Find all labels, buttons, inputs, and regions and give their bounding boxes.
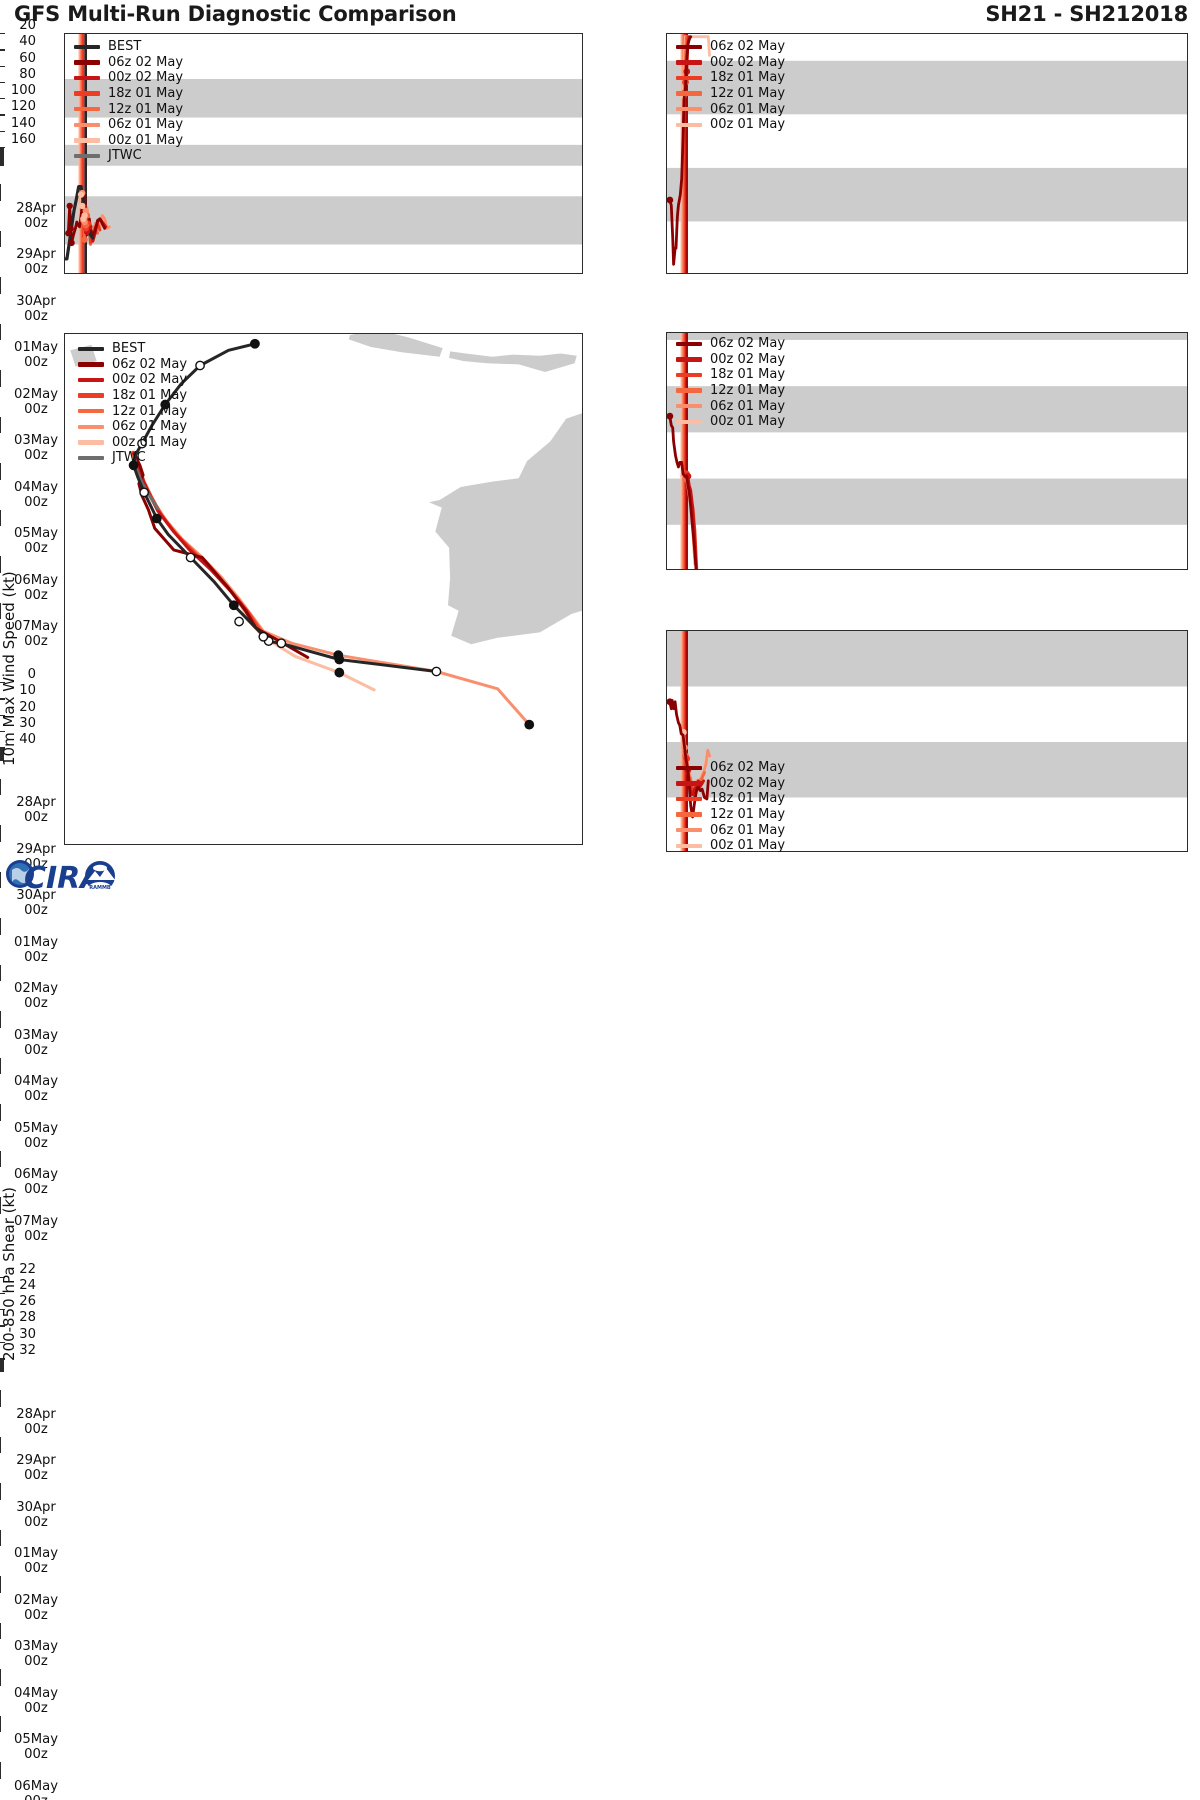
legend-sst: 06z 02 May00z 02 May18z 01 May12z 01 May… bbox=[676, 336, 785, 430]
legend-swatch bbox=[74, 76, 100, 80]
legend-item: 06z 01 May bbox=[74, 117, 183, 133]
legend-label: 00z 02 May bbox=[112, 372, 187, 387]
legend-swatch bbox=[676, 420, 702, 424]
legend-swatch bbox=[676, 76, 702, 80]
legend-label: 00z 02 May bbox=[710, 55, 785, 70]
legend-label: 06z 01 May bbox=[710, 399, 785, 414]
legend-swatch bbox=[676, 107, 702, 111]
legend-item: JTWC bbox=[74, 148, 183, 164]
legend-item: 00z 01 May bbox=[676, 117, 785, 133]
intensity-band bbox=[65, 196, 582, 244]
track-marker bbox=[259, 633, 267, 641]
legend-label: 12z 01 May bbox=[108, 102, 183, 117]
page-title: GFS Multi-Run Diagnostic Comparison bbox=[14, 2, 456, 26]
legend-label: 18z 01 May bbox=[112, 388, 187, 403]
legend-label: 00z 01 May bbox=[710, 414, 785, 429]
series-init-point bbox=[68, 240, 74, 246]
legend-item: 00z 02 May bbox=[74, 70, 183, 86]
legend-swatch bbox=[676, 404, 702, 408]
legend-label: 18z 01 May bbox=[710, 70, 785, 85]
legend-shear: 06z 02 May00z 02 May18z 01 May12z 01 May… bbox=[676, 39, 785, 133]
legend-item: 12z 01 May bbox=[74, 101, 183, 117]
track-line bbox=[135, 454, 308, 657]
legend-label: 00z 02 May bbox=[108, 70, 183, 85]
legend-label: 06z 01 May bbox=[710, 102, 785, 117]
legend-swatch bbox=[74, 123, 100, 127]
legend-swatch bbox=[676, 812, 702, 816]
intensity-band bbox=[667, 479, 1187, 525]
legend-swatch bbox=[676, 342, 702, 346]
legend-swatch bbox=[78, 378, 104, 382]
legend-item: BEST bbox=[74, 39, 183, 55]
legend-label: JTWC bbox=[108, 148, 142, 163]
legend-rh: 06z 02 May00z 02 May18z 01 May12z 01 May… bbox=[676, 760, 785, 854]
legend-swatch bbox=[676, 60, 702, 64]
legend-item: 00z 01 May bbox=[78, 435, 187, 451]
legend-swatch bbox=[74, 107, 100, 111]
legend-label: 06z 02 May bbox=[112, 357, 187, 372]
legend-item: 00z 02 May bbox=[78, 372, 187, 388]
legend-label: 00z 02 May bbox=[710, 776, 785, 791]
legend-swatch bbox=[78, 393, 104, 397]
series-init-point bbox=[67, 225, 73, 231]
legend-item: 06z 02 May bbox=[74, 55, 183, 71]
legend-swatch bbox=[676, 844, 702, 848]
legend-item: 12z 01 May bbox=[676, 86, 785, 102]
series-init-point bbox=[67, 203, 73, 209]
legend-item: 00z 01 May bbox=[74, 133, 183, 149]
legend-label: 00z 01 May bbox=[112, 435, 187, 450]
legend-swatch bbox=[78, 409, 104, 413]
track-marker bbox=[335, 668, 343, 676]
track-marker-open bbox=[196, 361, 204, 369]
legend-label: 00z 01 May bbox=[710, 117, 785, 132]
legend-item: 06z 02 May bbox=[676, 336, 785, 352]
legend-swatch bbox=[676, 45, 702, 49]
legend-item: 06z 02 May bbox=[676, 760, 785, 776]
legend-swatch bbox=[676, 123, 702, 127]
legend-swatch bbox=[676, 766, 702, 770]
legend-swatch bbox=[676, 797, 702, 801]
legend-item: 06z 01 May bbox=[78, 419, 187, 435]
legend-intensity: BEST06z 02 May00z 02 May18z 01 May12z 01… bbox=[74, 39, 183, 164]
cira-logo: CIRA RAMMB bbox=[4, 846, 126, 898]
series-init-point bbox=[81, 212, 87, 218]
legend-swatch bbox=[74, 60, 100, 64]
landmass bbox=[449, 351, 577, 372]
legend-item: 18z 01 May bbox=[676, 367, 785, 383]
legend-label: 06z 02 May bbox=[710, 760, 785, 775]
legend-item: 18z 01 May bbox=[78, 388, 187, 404]
legend-swatch bbox=[78, 440, 104, 444]
legend-label: 06z 02 May bbox=[108, 55, 183, 70]
legend-swatch bbox=[78, 347, 104, 351]
legend-item: 06z 01 May bbox=[676, 822, 785, 838]
legend-item: 06z 01 May bbox=[676, 101, 785, 117]
legend-label: 06z 01 May bbox=[710, 823, 785, 838]
legend-item: 06z 02 May bbox=[676, 39, 785, 55]
storm-identifier: SH21 - SH212018 bbox=[985, 2, 1188, 26]
series-init-point bbox=[79, 203, 85, 209]
legend-item: 00z 01 May bbox=[676, 414, 785, 430]
legend-swatch bbox=[74, 45, 100, 49]
landmass bbox=[349, 334, 443, 357]
legend-swatch bbox=[676, 373, 702, 377]
legend-item: JTWC bbox=[78, 450, 187, 466]
legend-label: BEST bbox=[108, 39, 141, 54]
legend-label: 06z 02 May bbox=[710, 336, 785, 351]
legend-swatch bbox=[676, 781, 702, 785]
landmass bbox=[429, 413, 582, 644]
legend-swatch bbox=[78, 456, 104, 460]
legend-label: 06z 01 May bbox=[108, 117, 183, 132]
track-marker-filled bbox=[230, 601, 238, 609]
y-axis-title-rh: 700-500 hPa Humidity (%) bbox=[0, 1366, 18, 1800]
legend-swatch bbox=[676, 357, 702, 361]
legend-label: 18z 01 May bbox=[710, 367, 785, 382]
legend-item: 00z 02 May bbox=[676, 776, 785, 792]
legend-track: BEST06z 02 May00z 02 May18z 01 May12z 01… bbox=[78, 341, 187, 466]
legend-item: 00z 01 May bbox=[676, 838, 785, 854]
track-marker-open bbox=[140, 488, 148, 496]
legend-label: 06z 01 May bbox=[112, 419, 187, 434]
legend-label: 18z 01 May bbox=[108, 86, 183, 101]
legend-item: 06z 02 May bbox=[78, 357, 187, 373]
legend-swatch bbox=[74, 91, 100, 95]
legend-swatch bbox=[676, 828, 702, 832]
legend-label: JTWC bbox=[112, 450, 146, 465]
legend-label: 00z 02 May bbox=[710, 352, 785, 367]
intensity-band bbox=[667, 631, 1187, 687]
legend-label: BEST bbox=[112, 341, 145, 356]
legend-label: 00z 01 May bbox=[108, 133, 183, 148]
series-init-point bbox=[81, 236, 87, 242]
legend-item: 00z 02 May bbox=[676, 55, 785, 71]
track-marker-filled bbox=[153, 514, 161, 522]
track-marker bbox=[432, 667, 440, 675]
track-marker bbox=[334, 651, 342, 659]
legend-label: 12z 01 May bbox=[710, 383, 785, 398]
series-init-point bbox=[78, 191, 84, 197]
legend-swatch bbox=[78, 362, 104, 366]
track-marker bbox=[525, 720, 533, 728]
legend-swatch bbox=[74, 138, 100, 142]
intensity-band bbox=[667, 168, 1187, 222]
legend-item: 06z 01 May bbox=[676, 398, 785, 414]
legend-item: 18z 01 May bbox=[676, 70, 785, 86]
legend-item: 00z 02 May bbox=[676, 352, 785, 368]
track-marker-open bbox=[186, 553, 194, 561]
legend-item: BEST bbox=[78, 341, 187, 357]
legend-item: 12z 01 May bbox=[676, 383, 785, 399]
legend-label: 06z 02 May bbox=[710, 39, 785, 54]
legend-item: 12z 01 May bbox=[78, 403, 187, 419]
track-marker-filled bbox=[251, 340, 259, 348]
legend-label: 12z 01 May bbox=[710, 86, 785, 101]
legend-swatch bbox=[74, 154, 100, 158]
legend-swatch bbox=[78, 425, 104, 429]
logo-sub-text: RAMMB bbox=[89, 885, 111, 891]
legend-label: 12z 01 May bbox=[112, 404, 187, 419]
legend-item: 18z 01 May bbox=[74, 86, 183, 102]
track-marker bbox=[235, 617, 243, 625]
legend-label: 12z 01 May bbox=[710, 807, 785, 822]
legend-label: 00z 01 May bbox=[710, 838, 785, 853]
legend-label: 18z 01 May bbox=[710, 791, 785, 806]
legend-item: 12z 01 May bbox=[676, 807, 785, 823]
legend-swatch bbox=[676, 388, 702, 392]
legend-swatch bbox=[676, 91, 702, 95]
legend-item: 18z 01 May bbox=[676, 791, 785, 807]
track-marker bbox=[277, 639, 285, 647]
